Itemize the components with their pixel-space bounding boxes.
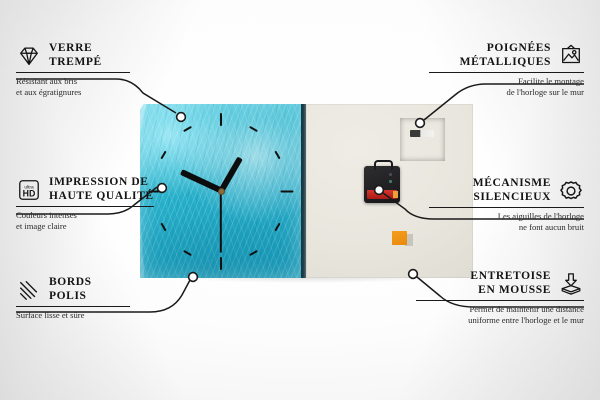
callout-title: MÉCANISME SILENCIEUX	[473, 177, 551, 204]
callout-title: POIGNÉES MÉTALLIQUES	[460, 42, 551, 69]
callout-rule	[429, 207, 584, 208]
clock-tick	[220, 257, 222, 270]
battery-terminal	[393, 191, 398, 198]
callout-sub-line: ne font aucun bruit	[424, 222, 584, 233]
callout-sub-line: uniforme entre l'horloge et le mur	[412, 315, 584, 326]
callout-title: ENTRETOISE EN MOUSSE	[470, 270, 551, 297]
callout-sub-line: et aux égratignures	[16, 87, 136, 98]
callout-mecanisme-silencieux[interactable]: MÉCANISME SILENCIEUX Les aiguilles de l'…	[424, 177, 584, 233]
callout-sub-line: Facilite le montage	[424, 76, 584, 87]
clock-tick	[220, 113, 222, 126]
callout-rule	[16, 206, 154, 207]
hanger-slot	[410, 130, 434, 137]
callout-rule	[16, 72, 130, 73]
callout-title: BORDS POLIS	[49, 276, 92, 303]
callout-sub-line: Couleurs intenses	[16, 210, 161, 221]
callout-sub-line: Surface lisse et sûre	[16, 310, 136, 321]
callout-poignees-metalliques[interactable]: POIGNÉES MÉTALLIQUES Facilite le montage…	[424, 42, 584, 98]
callout-title: VERRE TREMPÉ	[49, 42, 102, 69]
clock-tick	[160, 223, 166, 232]
callout-header: ENTRETOISE EN MOUSSE	[412, 270, 584, 297]
picture-hanger-icon	[558, 44, 584, 68]
callout-rule	[16, 306, 130, 307]
callout-header: POIGNÉES MÉTALLIQUES	[424, 42, 584, 69]
svg-text:HD: HD	[23, 188, 36, 198]
infographic-canvas: VERRE TREMPÉ Résistant aux bris et aux é…	[0, 0, 600, 400]
clock-center-pin	[218, 188, 225, 195]
callout-verre-trempe[interactable]: VERRE TREMPÉ Résistant aux bris et aux é…	[16, 42, 136, 98]
clock-tick	[249, 126, 258, 132]
metal-hanger-plate	[400, 118, 445, 161]
clock-mechanism	[364, 166, 400, 203]
callout-header: ultra HD IMPRESSION DE HAUTE QUALITÉ	[16, 176, 161, 203]
callout-sub-line: de l'horloge sur le mur	[424, 87, 584, 98]
polished-edge-icon	[16, 278, 42, 302]
mechanism-detail	[389, 173, 392, 176]
clock-tick	[249, 250, 258, 256]
callout-bords-polis[interactable]: BORDS POLIS Surface lisse et sûre	[16, 276, 136, 321]
callout-rule	[429, 72, 584, 73]
callout-title: IMPRESSION DE HAUTE QUALITÉ	[49, 176, 154, 203]
battery	[367, 190, 397, 199]
callout-sub-line: Résistant aux bris	[16, 76, 136, 87]
foam-spacer	[392, 231, 407, 245]
callout-sub-line: Permet de maintenir une distance	[412, 304, 584, 315]
clock-tick	[275, 223, 281, 232]
clock-second-hand	[220, 191, 222, 253]
clock-tick	[160, 151, 166, 160]
mechanism-detail	[389, 180, 392, 183]
callout-header: VERRE TREMPÉ	[16, 42, 136, 69]
ultra-hd-icon: ultra HD	[16, 178, 42, 202]
mechanism-hook	[374, 160, 393, 170]
clock-tick	[183, 250, 192, 256]
gear-icon	[558, 179, 584, 203]
clock-face	[140, 104, 301, 278]
callout-sub-line: Les aiguilles de l'horloge	[424, 211, 584, 222]
press-down-pad-icon	[558, 272, 584, 296]
callout-header: BORDS POLIS	[16, 276, 136, 303]
clock-tick	[183, 126, 192, 132]
diamond-icon	[16, 44, 42, 68]
callout-rule	[416, 300, 584, 301]
clock-minute-hand	[179, 170, 221, 194]
clock-tick	[275, 151, 281, 160]
callout-impression-haute-qualite[interactable]: ultra HD IMPRESSION DE HAUTE QUALITÉ Cou…	[16, 176, 161, 232]
callout-sub-line: et image claire	[16, 221, 161, 232]
clock-tick	[280, 190, 293, 192]
callout-header: MÉCANISME SILENCIEUX	[424, 177, 584, 204]
callout-entretoise-en-mousse[interactable]: ENTRETOISE EN MOUSSE Permet de maintenir…	[412, 270, 584, 326]
